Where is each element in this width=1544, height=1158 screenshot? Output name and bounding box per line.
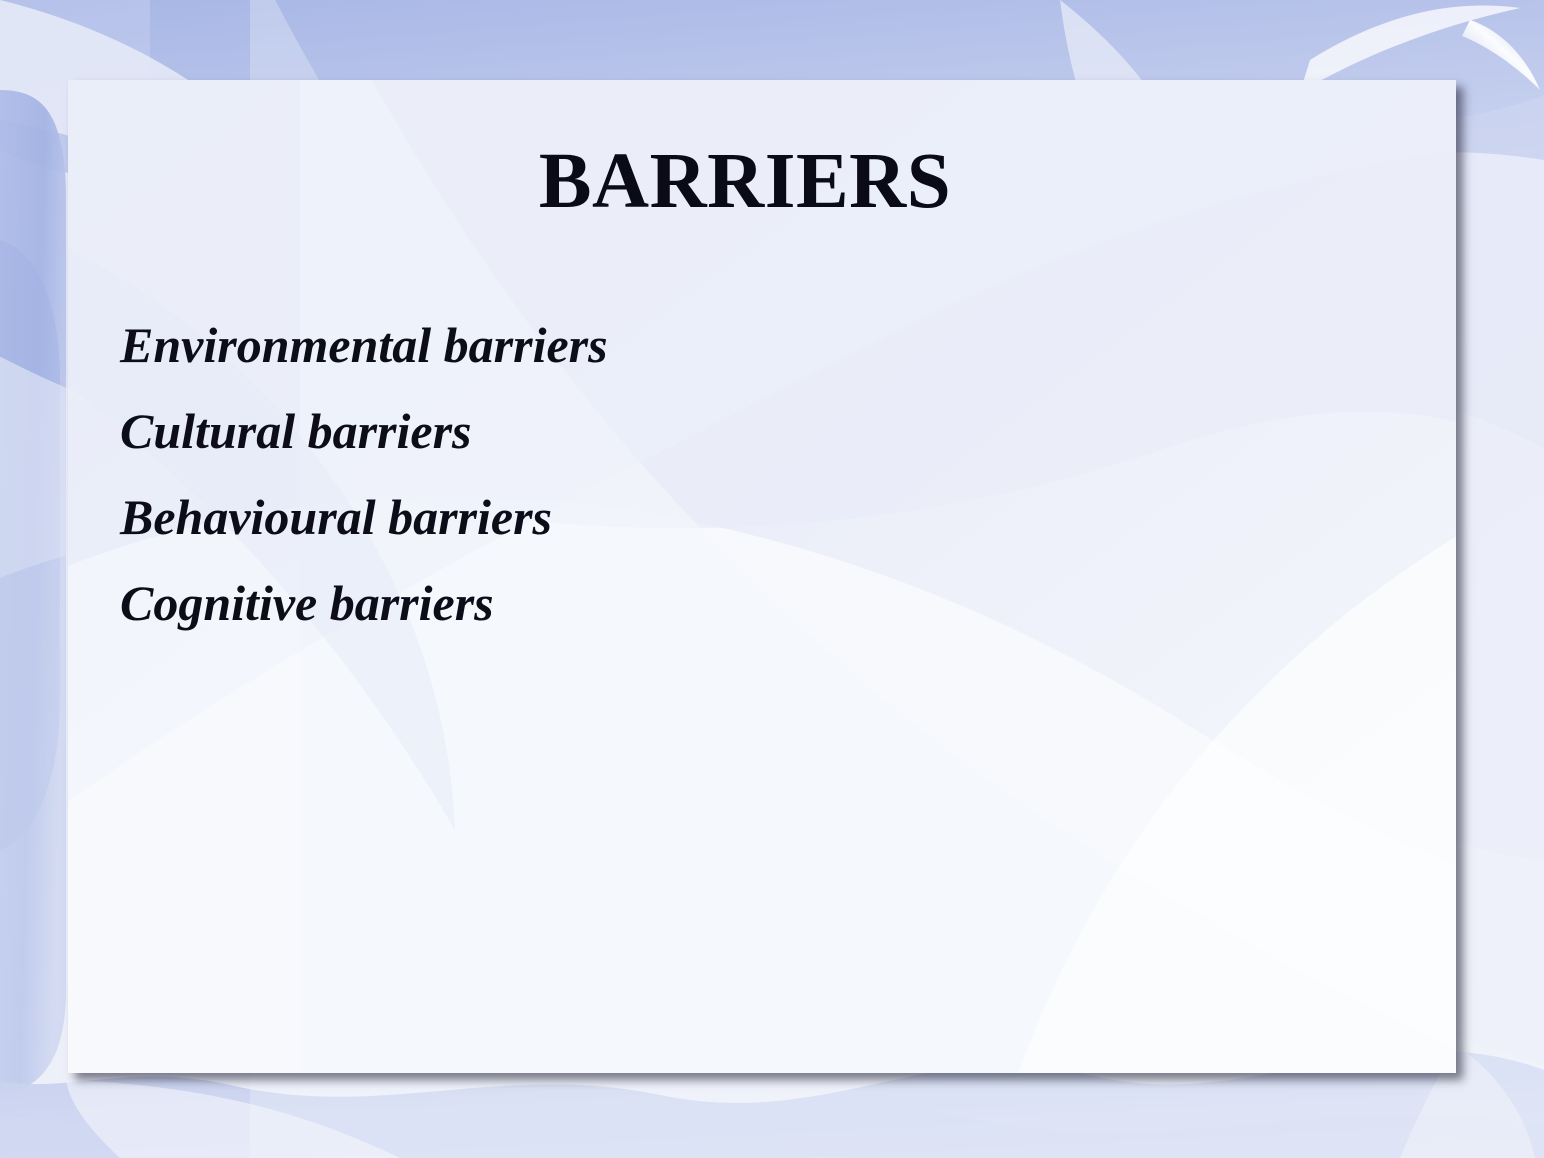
list-item: Cognitive barriers xyxy=(120,560,608,646)
list-item: Environmental barriers xyxy=(120,302,608,388)
bullet-label: Behavioural barriers xyxy=(120,489,552,545)
slide-content-panel: BARRIERS Environmental barriers Cultural… xyxy=(68,80,1456,1073)
list-item: Behavioural barriers xyxy=(120,474,608,560)
panel-text-content: BARRIERS Environmental barriers Cultural… xyxy=(68,80,1456,1073)
bullet-label: Environmental barriers xyxy=(120,317,608,373)
slide-canvas: BARRIERS Environmental barriers Cultural… xyxy=(0,0,1544,1158)
bullet-label: Cognitive barriers xyxy=(120,575,494,631)
bullet-label: Cultural barriers xyxy=(120,403,472,459)
list-item: Cultural barriers xyxy=(120,388,608,474)
page-title: BARRIERS xyxy=(68,142,1422,221)
bullet-list: Environmental barriers Cultural barriers… xyxy=(120,302,608,646)
